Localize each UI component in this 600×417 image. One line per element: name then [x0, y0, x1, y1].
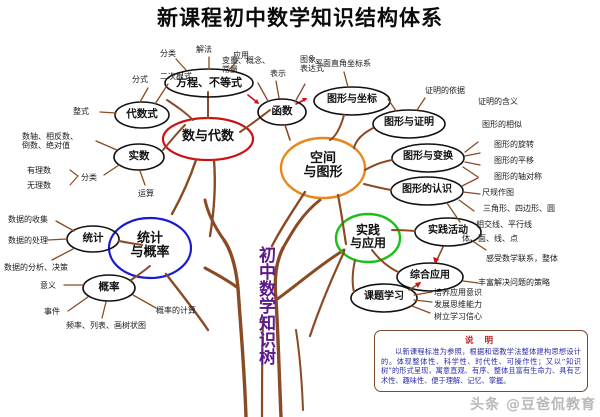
node-label-function[interactable]: 函数: [262, 106, 302, 117]
leaf-function-variable-concept: 变量、概念、 常量: [222, 57, 270, 75]
leaf-real-operation: 运算: [138, 188, 154, 199]
node-label-statistics[interactable]: 统计: [73, 233, 113, 244]
branch-pa-down: [310, 252, 344, 336]
node-label-figure-cognition[interactable]: 图形的认识: [394, 185, 460, 196]
leaf-link-classify: [176, 59, 186, 70]
fork-to-statistics: [205, 268, 238, 288]
leaf-link-event: [68, 297, 88, 311]
hub-line: 实践: [338, 224, 398, 237]
leaf-proof-basis: 证明的依据: [425, 85, 465, 96]
link-sf-cognition: [364, 184, 391, 190]
node-label-probability[interactable]: 概率: [89, 282, 129, 293]
leaf-link-rich-strategy: [463, 281, 478, 283]
node-label-comprehensive-application[interactable]: 综合应用: [400, 271, 460, 282]
leaf-link-data-collect: [56, 221, 74, 231]
node-label-figure-proof[interactable]: 图形与证明: [376, 118, 442, 129]
hub-line: 统计: [110, 232, 190, 246]
leaf-link-representation: [276, 81, 279, 98]
leaf-line: 常量: [222, 66, 270, 75]
leaf-solid-face-line-point: 体、面、线、点: [462, 233, 518, 244]
branch-right-lower: [296, 330, 303, 410]
branch-sp-down: [166, 274, 208, 330]
leaf-link-axis-symmetry: [463, 167, 478, 177]
leaf-algebraic-quadratic-radical: 二次根式: [160, 71, 192, 82]
leaf-link-fraction: [140, 88, 148, 102]
leaf-link-rotation: [465, 153, 480, 156]
leaf-cultivate-application-awareness: 培养应用意识: [434, 287, 482, 298]
trunk-left: [224, 240, 246, 417]
link-pa-topic-study: [353, 260, 355, 292]
hub-line: 与图形: [283, 166, 363, 180]
leaf-link-ruler-compass: [462, 178, 478, 186]
trunk-right: [275, 248, 283, 417]
leaf-build-learning-confidence: 树立学习信心: [434, 311, 482, 322]
leaf-link-intersect-parallel: [459, 200, 474, 211]
leaf-link-triangle-quad-circle: [463, 192, 480, 194]
note-box: 说 明 以新课程标准为参照，根据和谐教学法整体建构思想设计的。体现整体性、科学性…: [374, 330, 588, 392]
leaf-rich-problem-strategy: 丰富解决问题的策略: [478, 277, 550, 288]
leaf-link-freq-list-tree: [102, 302, 106, 318]
link-na-algebraic: [167, 100, 193, 120]
hub-line: 空间: [283, 152, 363, 166]
leaf-feel-math-connection: 感受数学联系，整体: [486, 253, 558, 264]
hub-line: 数与代数: [182, 129, 234, 144]
hub-label-statistics-probability[interactable]: 统计 与概率: [110, 232, 190, 260]
leaf-intersecting-parallel-lines: 相交线、平行线: [476, 219, 532, 230]
leaf-develop-thinking-ability: 发展思维能力: [434, 299, 482, 310]
leaf-cartesian-coordinate-system: 平面直角坐标系: [315, 58, 371, 69]
leaf-equation-method: 解法: [196, 44, 212, 55]
leaf-figure-similar: 图形的相似: [482, 119, 522, 130]
leaf-link-solid-face-line-point: [447, 203, 460, 222]
node-label-figure-coordinate[interactable]: 图形与坐标: [317, 95, 387, 106]
link-sf-coordinate: [330, 115, 344, 140]
link-sf-transform: [365, 160, 392, 170]
leaf-figure-rotation: 图形的旋转: [494, 139, 534, 150]
node-label-topic-study[interactable]: 课题学习: [354, 292, 414, 303]
leaf-link-data-process: [48, 239, 67, 240]
leaf-data-collection: 数据的收集: [8, 214, 48, 225]
leaf-line: 倒数、绝对值: [22, 142, 94, 151]
leaf-probability-event: 事件: [44, 306, 60, 317]
note-title: 说 明: [381, 334, 581, 346]
leaf-triangle-quad-circle: 三角形、四边形、圆: [483, 203, 555, 214]
leaf-link-proof-meaning: [417, 98, 425, 110]
leaf-data-processing: 数据的处理: [8, 235, 48, 246]
leaf-link-numberline: [96, 141, 117, 150]
leaf-probability-meaning: 意义: [40, 280, 56, 291]
hub-label-number-algebra[interactable]: 数与代数: [163, 130, 253, 144]
leaf-link-translation: [465, 162, 480, 165]
hub-line: 与应用: [338, 237, 398, 250]
leaf-algebraic-polynomial: 整式: [73, 106, 89, 117]
leaf-frequency-list-tree-diagram: 频率、列表、画树状图: [66, 320, 146, 331]
leaf-link-prob-calc: [133, 295, 156, 308]
note-body: 以新课程标准为参照，根据和谐教学法整体建构思想设计的。体现整体性、科学性、时代性…: [381, 347, 581, 385]
link-function-down: [285, 125, 290, 140]
leaf-link-quadratic-radical: [155, 84, 168, 104]
leaf-figure-translation: 图形的平移: [494, 155, 534, 166]
leaf-link-confidence: [412, 306, 430, 313]
leaf-proof-meaning: 证明的含义: [478, 96, 518, 107]
leaf-figure-axis-symmetry: 图形的轴对称: [494, 171, 542, 182]
leaf-probability-calculation: 概率的计算: [156, 305, 196, 316]
leaf-data-analysis-decision: 数据的分析、决策: [4, 262, 68, 273]
leaf-brace-bottom: [70, 176, 78, 185]
leaf-algebraic-fraction: 分式: [132, 74, 148, 85]
hub-label-space-figure[interactable]: 空间 与图形: [283, 152, 363, 180]
leaf-link-polynomial: [100, 112, 116, 113]
hub-label-practice-application[interactable]: 实践 与应用: [338, 224, 398, 250]
leaf-ruler-compass-construction: 尺规作图: [482, 187, 514, 198]
branch-na-down-left: [172, 160, 196, 214]
leaf-link-cartesian: [344, 72, 348, 87]
fork-to-space-figure: [283, 200, 320, 248]
leaf-real-rational: 有理数: [27, 165, 51, 176]
leaf-real-numberline: 数轴、相反数、 倒数、绝对值: [22, 133, 94, 151]
node-label-real-number[interactable]: 实数: [119, 151, 159, 162]
leaf-function-representation: 表示: [270, 68, 286, 79]
trunk-title: 初中数学知识树: [247, 246, 273, 365]
leaf-link-awareness: [414, 292, 432, 295]
hub-line: 与概率: [110, 246, 190, 260]
leaf-link-variable: [258, 83, 268, 101]
node-label-algebraic-expression[interactable]: 代数式: [117, 109, 167, 120]
leaf-real-irrational: 无理数: [27, 180, 51, 191]
mindmap-canvas: 新课程初中数学知识结构体系: [0, 0, 600, 417]
link-sf-proof: [354, 128, 373, 148]
leaf-brace-top: [70, 170, 78, 176]
leaf-link-operation: [140, 171, 145, 185]
leaf-link-classification: [104, 165, 119, 175]
leaf-equation-classify: 分类: [160, 48, 176, 59]
leaf-link-data-analyze: [52, 249, 73, 260]
watermark: 头条 @豆爸侃教育: [430, 394, 596, 414]
leaf-link-similar: [465, 142, 478, 152]
leaf-real-classification: 分类: [81, 172, 97, 183]
node-label-figure-transform[interactable]: 图形与变换: [395, 152, 461, 163]
